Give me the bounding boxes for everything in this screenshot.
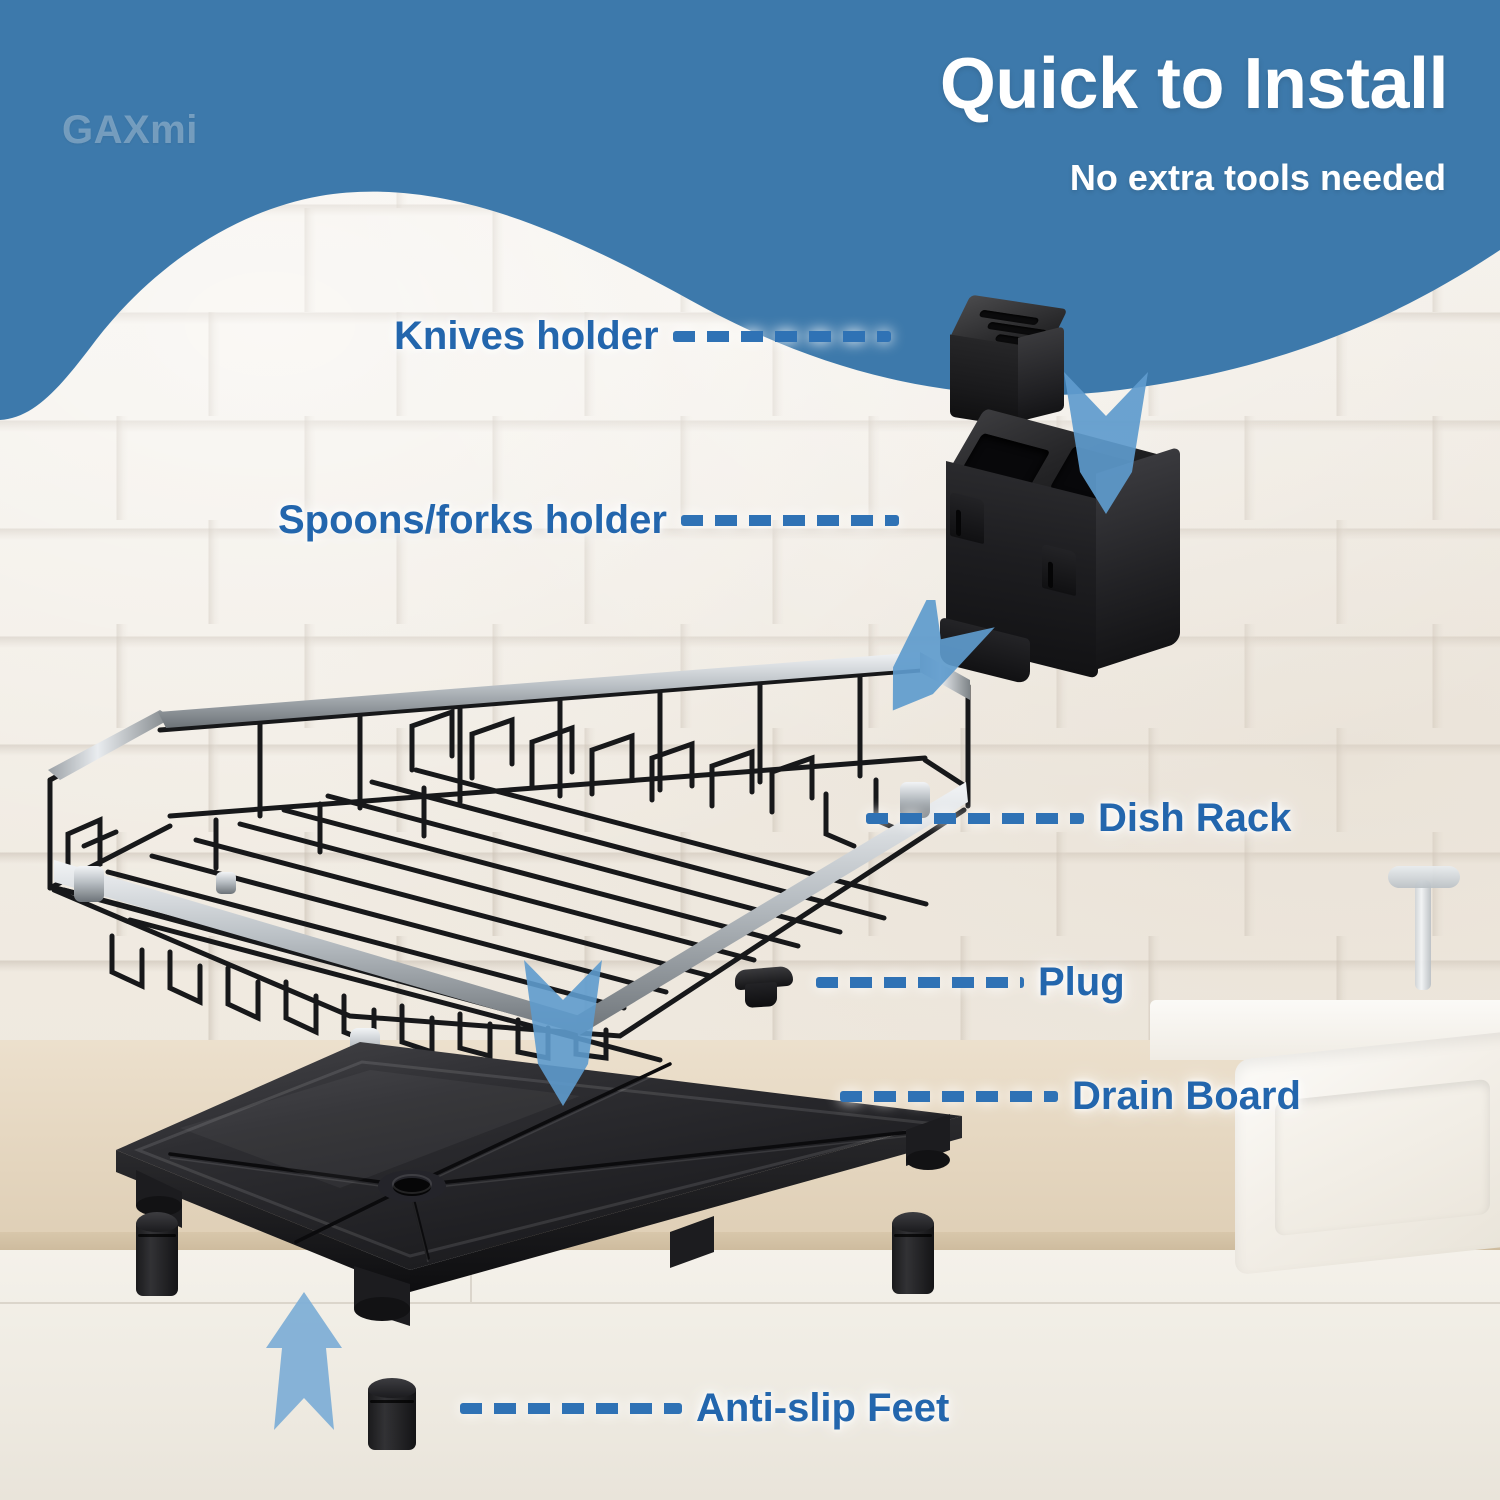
callout-label: Drain Board	[1072, 1076, 1301, 1116]
arrow-caddy-onto-rack-icon	[868, 600, 1008, 730]
product-infographic: GAXmi Quick to Install No extra tools ne…	[0, 0, 1500, 1500]
anti-slip-foot-part	[368, 1378, 416, 1450]
callout-dish-rack: Dish Rack	[866, 798, 1291, 838]
callout-plug: Plug	[816, 962, 1125, 1002]
arrow-knives-into-caddy-icon	[1046, 368, 1166, 518]
anti-slip-foot-part	[892, 1212, 934, 1294]
callout-drain-board: Drain Board	[840, 1076, 1301, 1116]
page-subtitle: No extra tools needed	[1070, 160, 1446, 196]
leader-line	[681, 515, 899, 526]
arrow-feet-into-board-icon	[258, 1292, 350, 1432]
callout-label: Plug	[1038, 962, 1125, 1002]
anti-slip-foot-part	[136, 1212, 178, 1296]
faucet-icon	[1415, 880, 1431, 990]
leader-line	[840, 1091, 1058, 1102]
page-title: Quick to Install	[940, 48, 1448, 120]
callout-label: Spoons/forks holder	[278, 500, 667, 540]
callout-label: Anti-slip Feet	[696, 1388, 949, 1428]
drain-plug-part	[735, 968, 795, 1010]
brand-watermark: GAXmi	[62, 108, 198, 153]
leader-line	[673, 331, 891, 342]
callout-spoons-forks-holder: Spoons/forks holder	[278, 500, 899, 540]
callout-label: Knives holder	[394, 316, 659, 356]
faucet-head-icon	[1388, 866, 1460, 888]
callout-anti-slip-feet: Anti-slip Feet	[460, 1388, 949, 1428]
callout-label: Dish Rack	[1098, 798, 1291, 838]
leader-line	[460, 1403, 682, 1414]
sink-inner	[1275, 1079, 1490, 1237]
leader-line	[866, 813, 1084, 824]
arrow-rack-onto-board-icon	[508, 960, 618, 1110]
callout-knives-holder: Knives holder	[394, 316, 891, 356]
leader-line	[816, 977, 1024, 988]
